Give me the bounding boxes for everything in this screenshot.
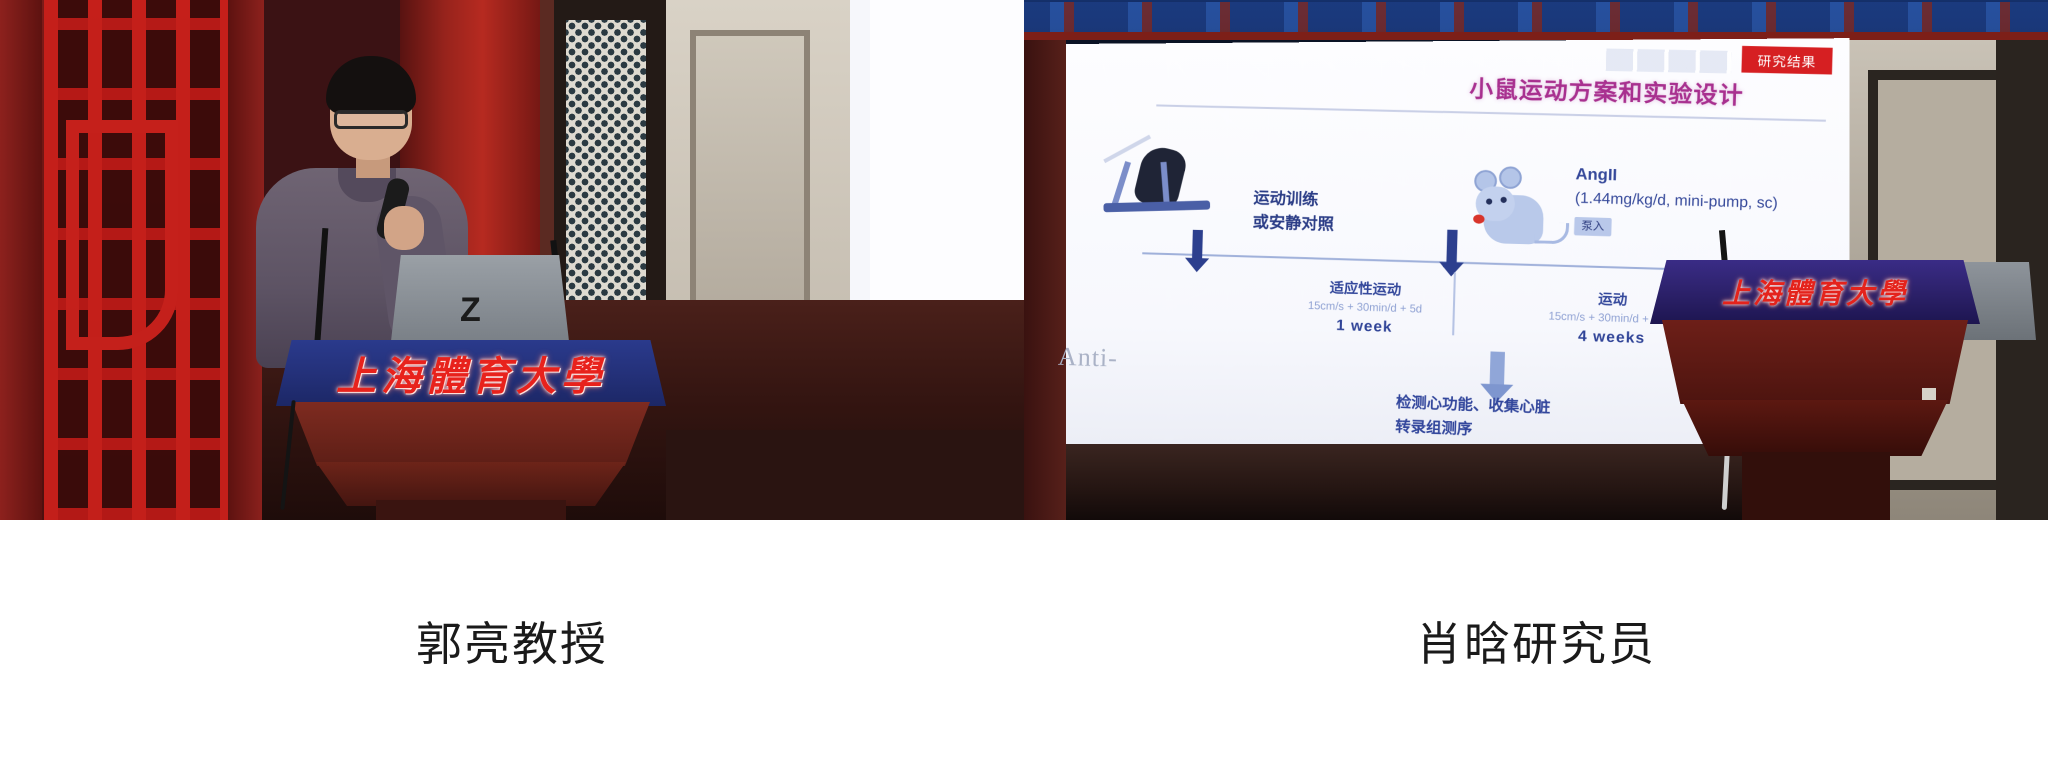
slide-progress-tabs	[1606, 48, 1732, 73]
exercise-group-label: 运动训练 或安静对照	[1252, 187, 1427, 241]
down-arrow-icon	[1490, 351, 1505, 386]
drug-tag: 泵入	[1574, 216, 1612, 236]
eyeglasses	[334, 110, 408, 129]
podium2-sign-text: 上海體育大學	[1722, 272, 1908, 312]
lattice-frame-left	[0, 0, 42, 520]
caption-left-text: 郭亮教授	[416, 608, 608, 674]
drug-name: AngII	[1575, 166, 1617, 184]
phase-1-title: 适应性运动	[1263, 275, 1468, 302]
phase-1-detail: 15cm/s + 30min/d + 5d	[1263, 298, 1467, 317]
left-red-pillar	[1024, 40, 1066, 520]
podium2-sign: 上海體育大學	[1666, 264, 1964, 320]
podium-mid-panel	[292, 402, 650, 466]
caption-right: 肖晗研究员	[1024, 520, 2048, 761]
red-lattice-wall	[0, 0, 262, 520]
podium-base	[376, 500, 566, 520]
podium-right: 上海體育大學	[1650, 260, 1980, 520]
lattice-pattern	[44, 0, 230, 520]
treadmill-illustration	[1095, 142, 1218, 235]
treadmill-belt	[1103, 200, 1210, 212]
podium2-lower-panel	[1682, 400, 1948, 456]
phase-1-duration: 1 week	[1262, 315, 1467, 339]
photo-right-xiao-han: 研究结果 小鼠运动方案和实验设计 运动训练 或安静对照	[1024, 0, 2048, 520]
slide-watermark: Anti-	[1058, 342, 1219, 377]
speaker-hand	[384, 206, 424, 250]
podium-sign-text: 上海體育大學	[336, 344, 606, 402]
exercise-group-line2: 或安静对照	[1252, 211, 1426, 241]
laptop-logo: Z	[460, 291, 481, 330]
caption-row: 郭亮教授 肖晗研究员	[0, 520, 2048, 761]
two-photo-figure: Z 上海體育大學	[0, 0, 2048, 761]
timeline-arrow-2	[1446, 230, 1457, 265]
beam-red-stripe	[1024, 32, 2048, 40]
slide-section-badge: 研究结果	[1741, 46, 1832, 75]
podium-sign: 上海體育大學	[286, 344, 656, 402]
drug-label: AngII (1.44mg/kg/d, mini-pump, sc) 泵入	[1574, 163, 1838, 243]
beam-decoration	[1024, 2, 2048, 32]
caption-left: 郭亮教授	[0, 520, 1024, 761]
mouse-ear-right	[1499, 166, 1522, 189]
timeline-arrow-1	[1192, 230, 1203, 260]
mouse-tail	[1534, 222, 1569, 244]
caption-right-text: 肖晗研究员	[1416, 608, 1656, 674]
mouse-cartoon-icon	[1468, 161, 1568, 251]
laptop: Z	[390, 255, 570, 350]
treadmill-leg-1	[1111, 161, 1131, 207]
projection-screen-bright	[870, 0, 1024, 330]
photo-row: Z 上海體育大學	[0, 0, 2048, 520]
photo-left-guo-liang: Z 上海體育大學	[0, 0, 1024, 520]
stage-floor-far	[666, 430, 1024, 520]
podium-left: 上海體育大學	[276, 340, 666, 520]
timeline-phase-1: 适应性运动 15cm/s + 30min/d + 5d 1 week	[1262, 275, 1468, 338]
podium2-base	[1742, 452, 1890, 520]
slide-title: 小鼠运动方案和实验设计	[1389, 67, 1826, 113]
